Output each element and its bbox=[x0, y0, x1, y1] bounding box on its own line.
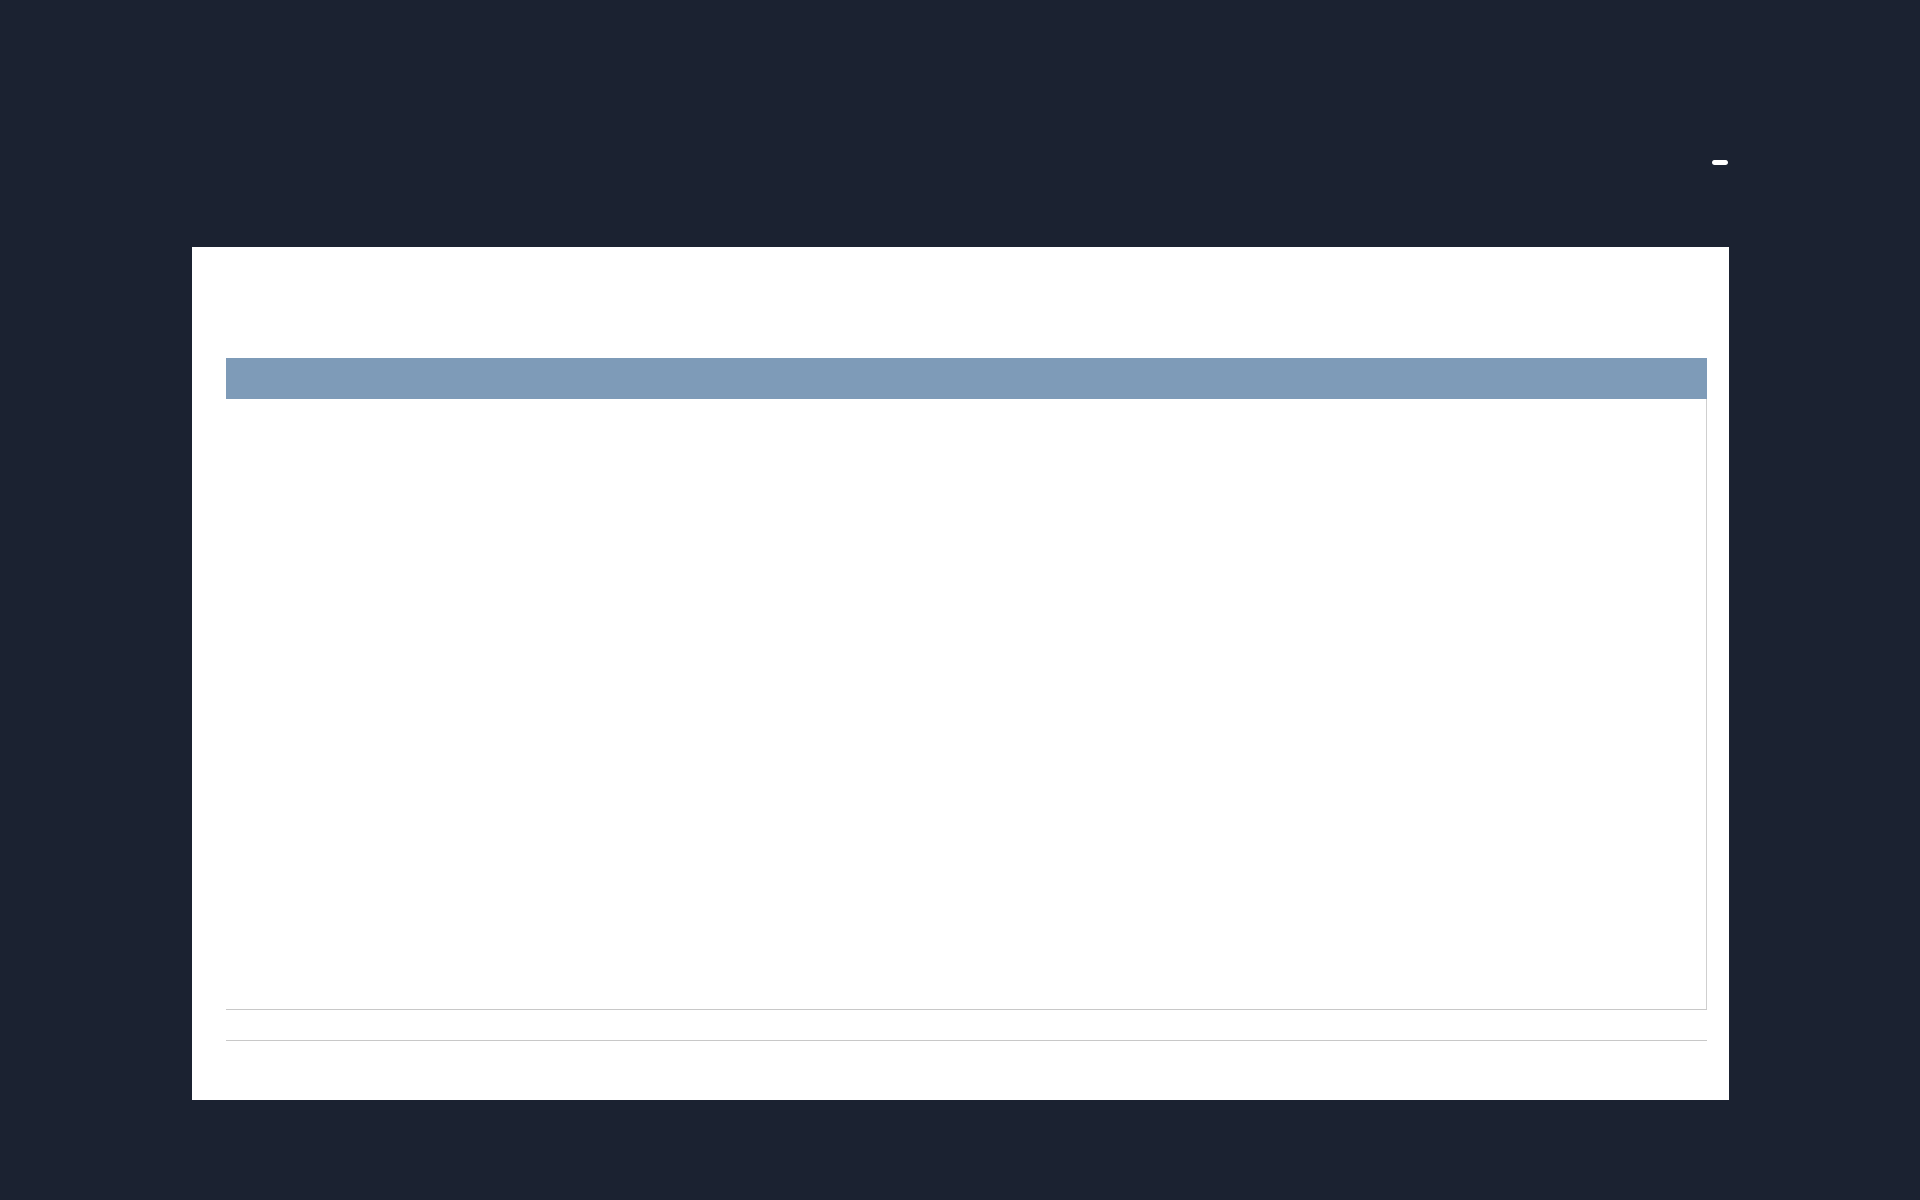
chart-plot-area[interactable] bbox=[226, 399, 1707, 1009]
page-header bbox=[0, 0, 1920, 235]
chart-card bbox=[192, 247, 1729, 1100]
y-axis[interactable] bbox=[1706, 399, 1766, 1009]
navigator-overview-line bbox=[226, 358, 1707, 399]
price-series-line bbox=[226, 399, 1707, 1009]
x-axis[interactable] bbox=[226, 1009, 1707, 1041]
logo-text-wire bbox=[1712, 160, 1728, 165]
livewire-logo bbox=[1710, 140, 1728, 184]
chart-navigator[interactable] bbox=[226, 358, 1707, 399]
page-root bbox=[0, 0, 1920, 1200]
